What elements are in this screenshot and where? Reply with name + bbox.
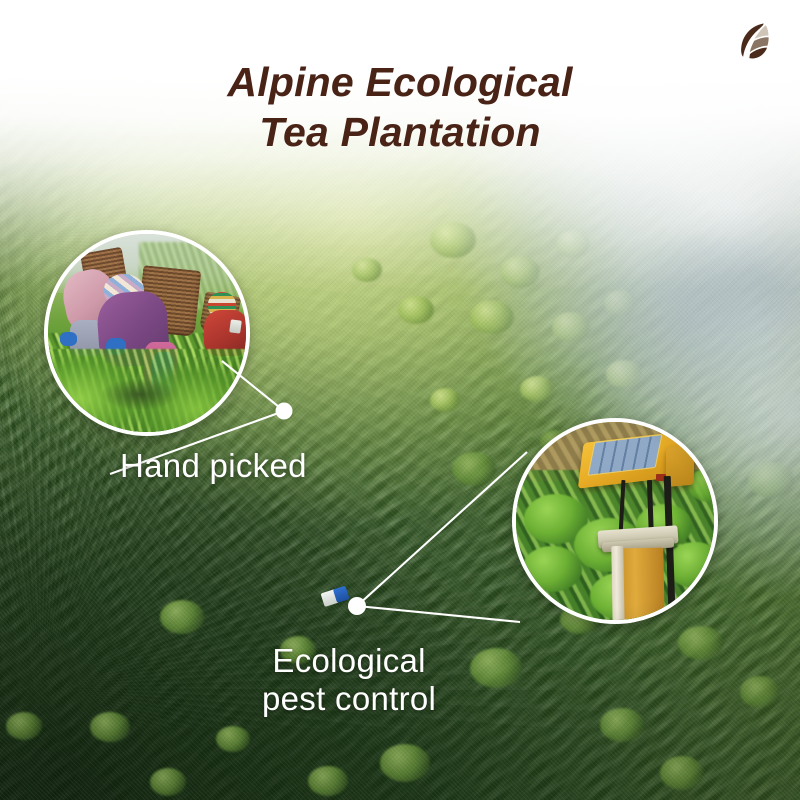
callout-label-hand-picked: Hand picked bbox=[120, 447, 307, 485]
title-line-1: Alpine Ecological bbox=[227, 59, 572, 105]
solar-insect-trap-photo[interactable] bbox=[512, 418, 718, 624]
tea-pickers-photo[interactable] bbox=[44, 230, 250, 436]
tea-leaf-logo-icon[interactable] bbox=[732, 18, 776, 62]
poster-canvas: Alpine Ecological Tea Plantation bbox=[0, 0, 800, 800]
poster-title: Alpine Ecological Tea Plantation bbox=[0, 58, 800, 157]
callout-label-ecological-pest-control: Ecological pest control bbox=[262, 642, 436, 719]
title-line-2: Tea Plantation bbox=[0, 108, 800, 158]
